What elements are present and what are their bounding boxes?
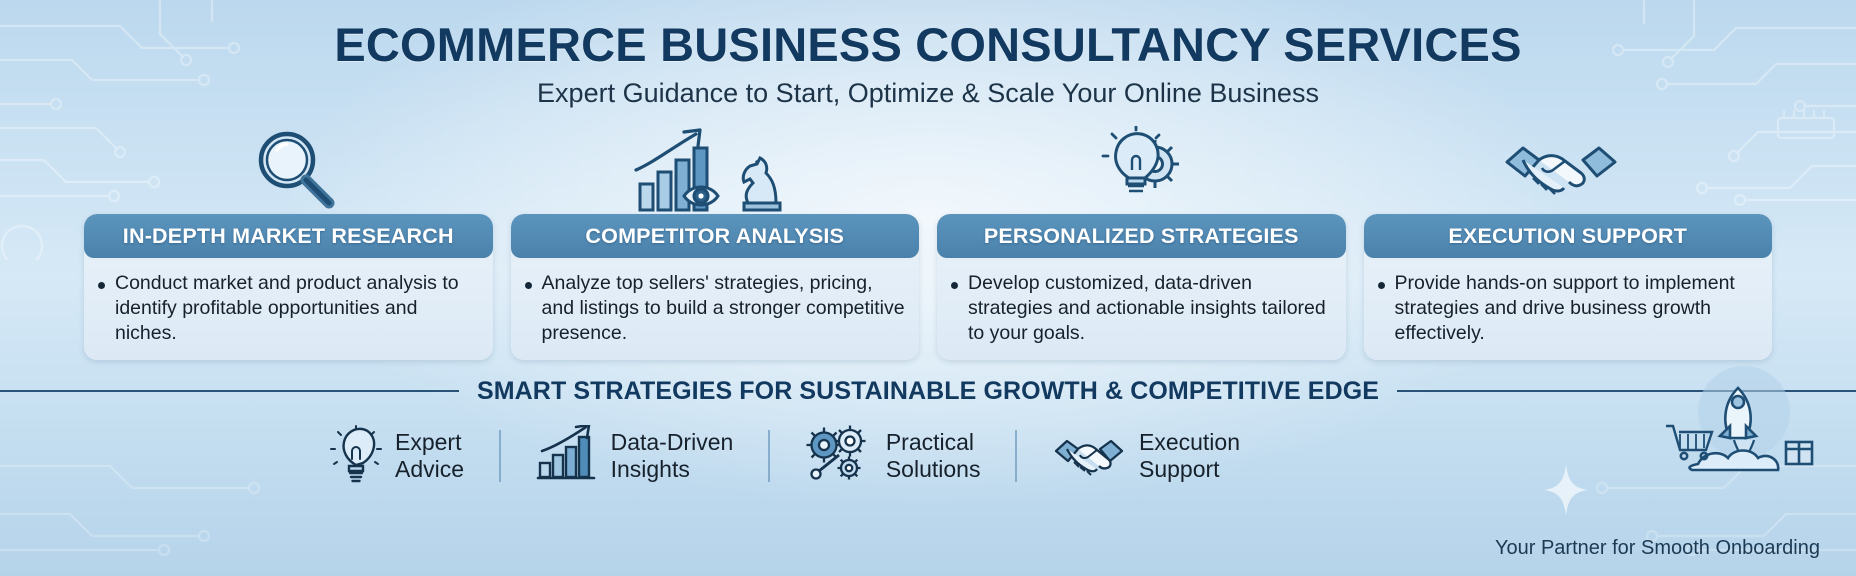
list-item: Analyze top sellers' strategies, pricing…: [525, 271, 906, 346]
card-body-text: Conduct market and product analysis to i…: [115, 271, 479, 346]
feature-data-driven-insights[interactable]: Data-Driven Insights: [536, 425, 734, 488]
divider-left: [0, 390, 459, 392]
magnifier-icon: [84, 126, 506, 212]
page-subtitle: Expert Guidance to Start, Optimize & Sca…: [0, 78, 1856, 109]
card-body-text: Analyze top sellers' strategies, pricing…: [542, 271, 906, 346]
feature-expert-advice[interactable]: Expert Advice: [330, 425, 464, 488]
card-body-text: Develop customized, data-driven strategi…: [968, 271, 1332, 346]
card-title: COMPETITOR ANALYSIS: [511, 214, 920, 258]
bullet-icon: [98, 282, 105, 289]
gears-icon: [805, 425, 873, 488]
card-body: Develop customized, data-driven strategi…: [937, 258, 1346, 360]
card-title: EXECUTION SUPPORT: [1364, 214, 1773, 258]
tagline-text: SMART STRATEGIES FOR SUSTAINABLE GROWTH …: [459, 377, 1397, 406]
bullet-icon: [951, 282, 958, 289]
card-personalized-strategies[interactable]: PERSONALIZED STRATEGIES Develop customiz…: [937, 214, 1346, 360]
card-body-text: Provide hands-on support to implement st…: [1395, 271, 1759, 346]
footer-note: Your Partner for Smooth Onboarding: [1495, 537, 1820, 560]
card-body: Analyze top sellers' strategies, pricing…: [511, 258, 920, 360]
handshake-icon: [1052, 425, 1126, 488]
card-market-research[interactable]: IN-DEPTH MARKET RESEARCH Conduct market …: [84, 214, 493, 360]
cards-container: IN-DEPTH MARKET RESEARCH Conduct market …: [84, 214, 1772, 360]
bullet-icon: [1378, 282, 1385, 289]
list-item: Develop customized, data-driven strategi…: [951, 271, 1332, 346]
feature-separator: [1015, 430, 1017, 482]
tagline-band: SMART STRATEGIES FOR SUSTAINABLE GROWTH …: [0, 374, 1856, 408]
card-title: IN-DEPTH MARKET RESEARCH: [84, 214, 493, 258]
sparkle-icon: [1544, 464, 1588, 516]
feature-label: Practical Solutions: [886, 429, 981, 483]
page-title: ECOMMERCE BUSINESS CONSULTANCY SERVICES: [0, 20, 1856, 69]
feature-label: Execution Support: [1139, 429, 1240, 483]
rocket-cart-decoration: [1626, 360, 1826, 490]
card-title: PERSONALIZED STRATEGIES: [937, 214, 1346, 258]
idea-gear-icon: [928, 126, 1350, 212]
analysis-icon: [506, 126, 928, 212]
feature-label: Expert Advice: [395, 429, 464, 483]
feature-row: Expert Advice Data-Driven Insigh: [330, 416, 1240, 496]
card-body: Provide hands-on support to implement st…: [1364, 258, 1773, 360]
lightbulb-icon: [330, 425, 382, 488]
header: ECOMMERCE BUSINESS CONSULTANCY SERVICES …: [0, 20, 1856, 109]
feature-label: Data-Driven Insights: [611, 429, 734, 483]
feature-separator: [499, 430, 501, 482]
card-competitor-analysis[interactable]: COMPETITOR ANALYSIS Analyze top sellers'…: [511, 214, 920, 360]
bullet-icon: [525, 282, 532, 289]
list-item: Provide hands-on support to implement st…: [1378, 271, 1759, 346]
card-execution-support[interactable]: EXECUTION SUPPORT Provide hands-on suppo…: [1364, 214, 1773, 360]
feature-execution-support[interactable]: Execution Support: [1052, 425, 1240, 488]
card-body: Conduct market and product analysis to i…: [84, 258, 493, 360]
handshake-icon: [1350, 126, 1772, 212]
list-item: Conduct market and product analysis to i…: [98, 271, 479, 346]
feature-separator: [768, 430, 770, 482]
top-icon-row: [84, 126, 1772, 212]
feature-practical-solutions[interactable]: Practical Solutions: [805, 425, 981, 488]
bar-chart-icon: [536, 425, 598, 488]
infographic-root: ECOMMERCE BUSINESS CONSULTANCY SERVICES …: [0, 0, 1856, 576]
